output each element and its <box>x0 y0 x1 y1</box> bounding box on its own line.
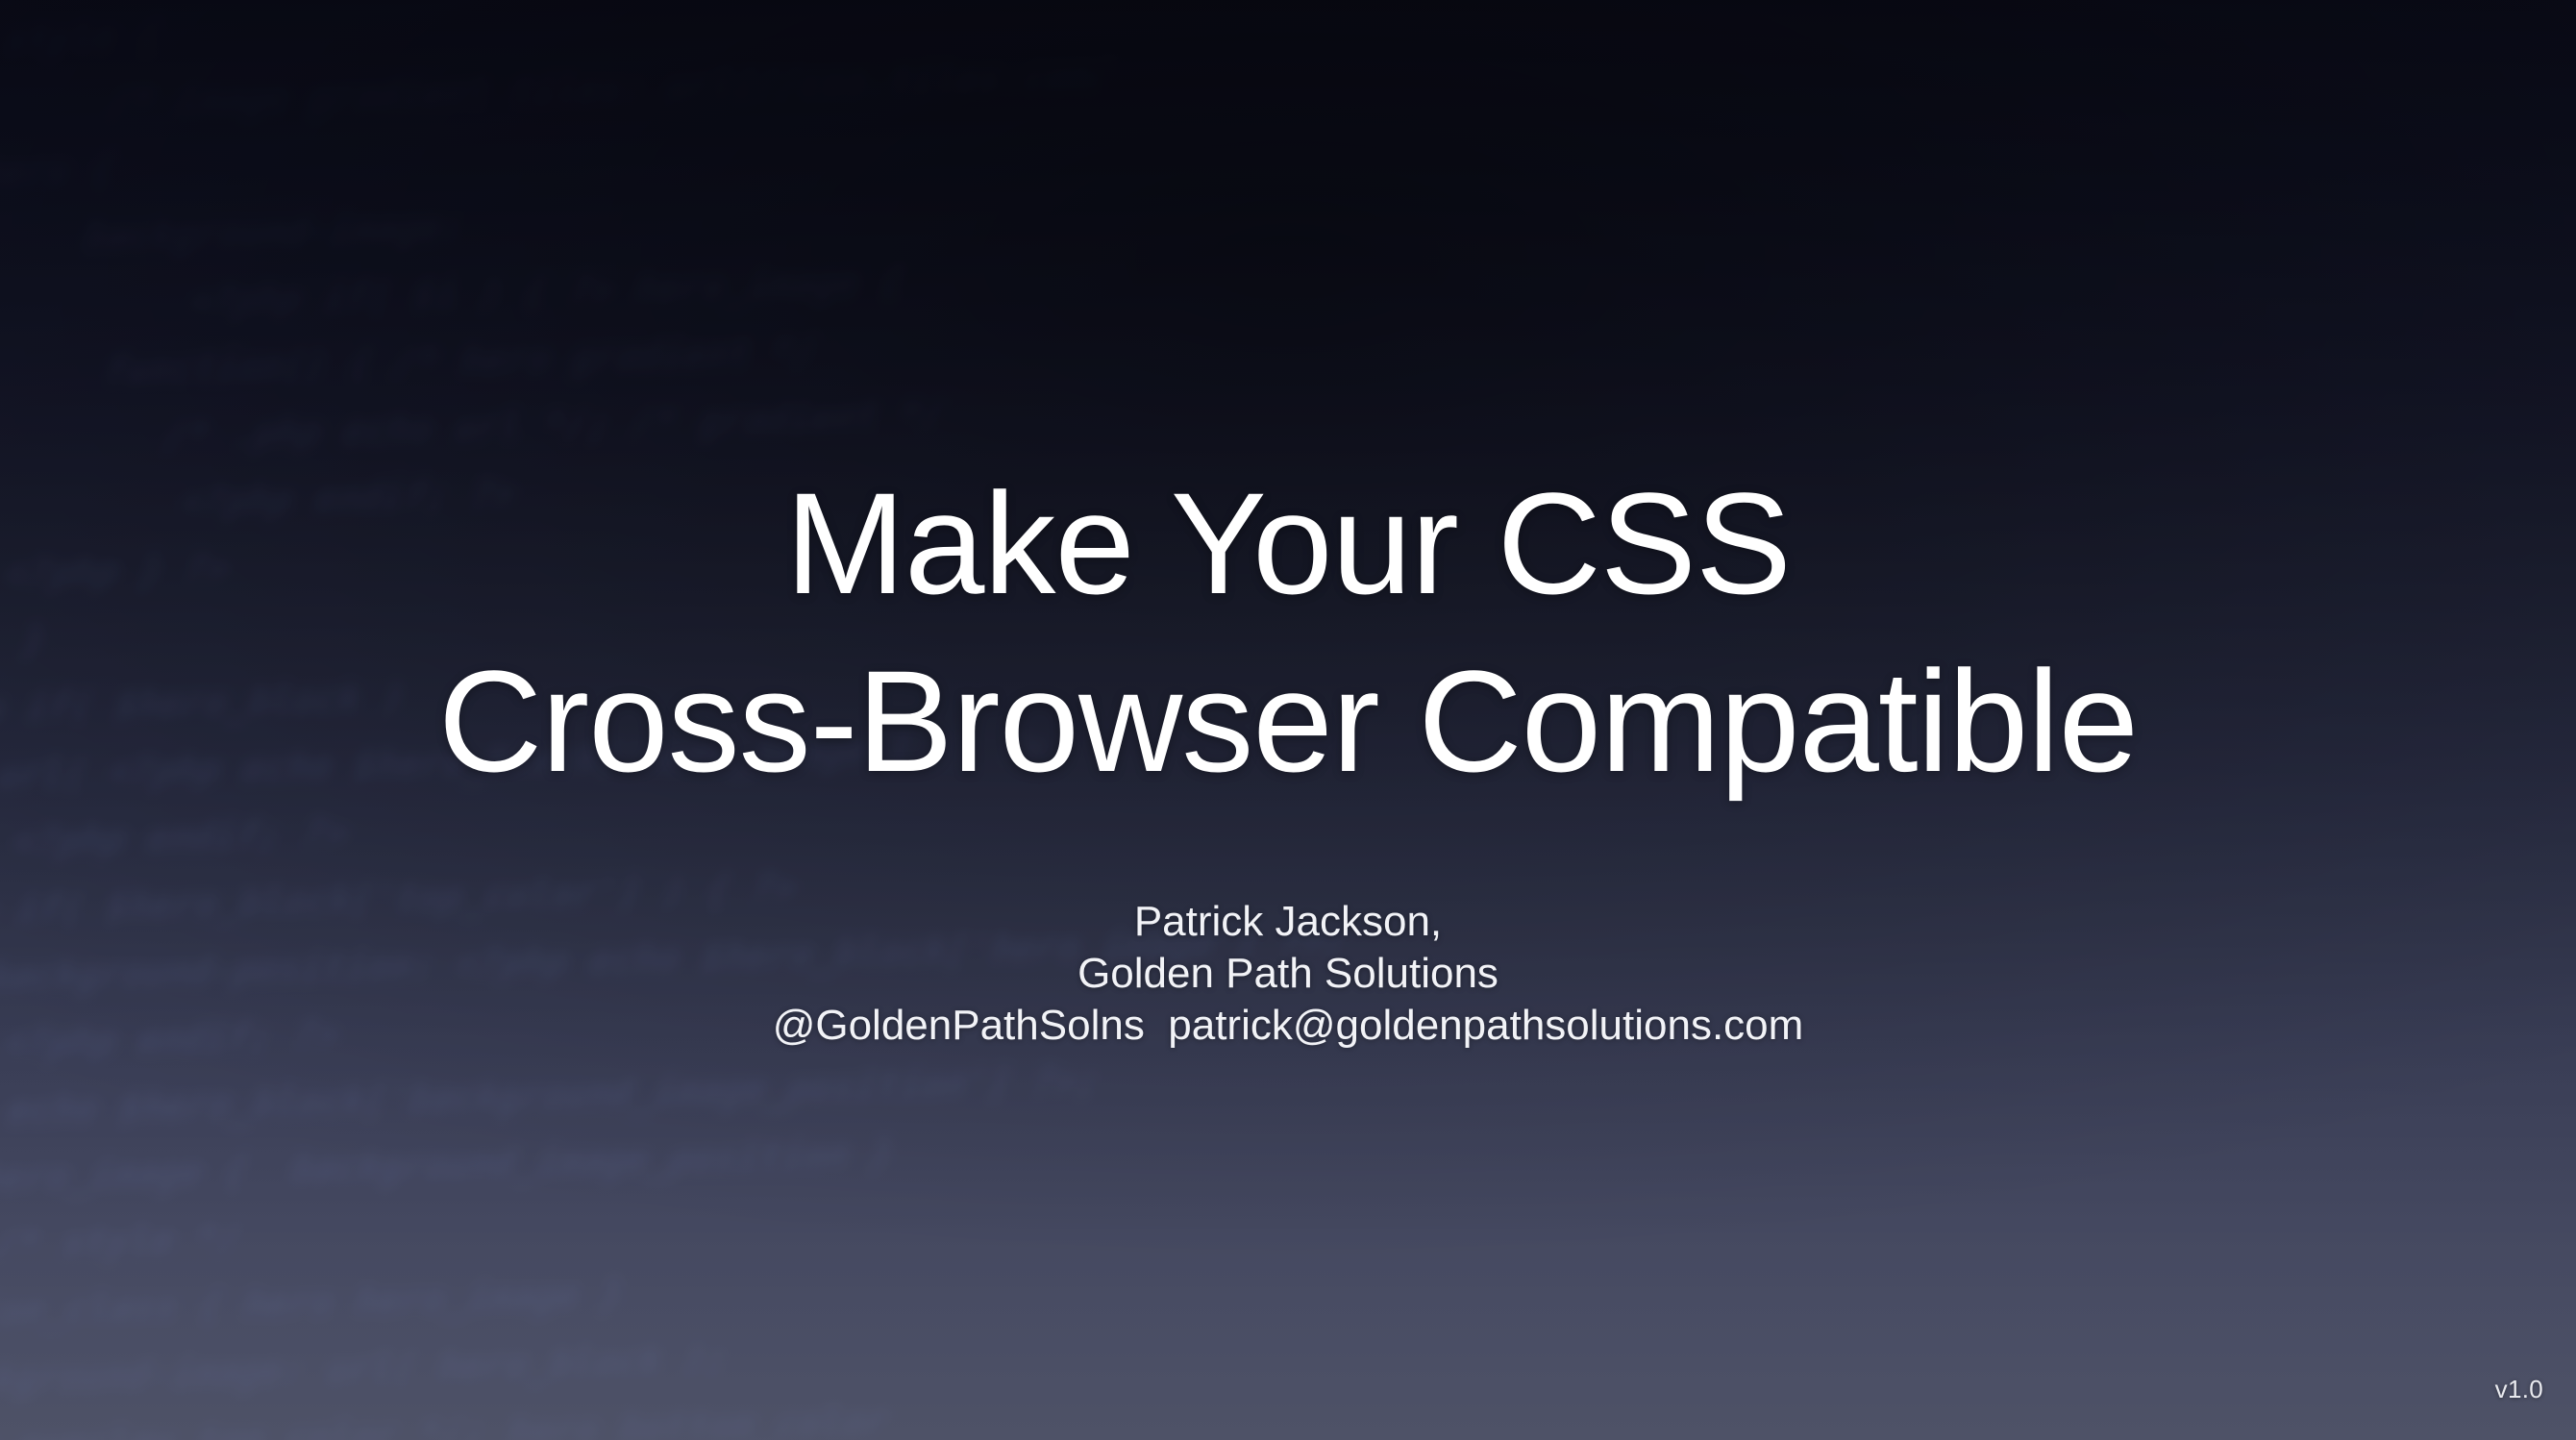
title-slide: /* style */style { /* image gradient til… <box>0 0 2576 1440</box>
slide-title: Make Your CSS Cross-Browser Compatible <box>0 455 2576 810</box>
slide-content: Make Your CSS Cross-Browser Compatible P… <box>0 0 2576 1440</box>
slide-title-line-2: Cross-Browser Compatible <box>0 633 2576 810</box>
version-label: v1.0 <box>2495 1375 2543 1403</box>
presenter-byline: Patrick Jackson, Golden Path Solutions @… <box>0 896 2576 1052</box>
presenter-name: Patrick Jackson, <box>0 896 2576 948</box>
presenter-contact: @GoldenPathSolns patrick@goldenpathsolut… <box>0 1000 2576 1052</box>
presenter-company: Golden Path Solutions <box>0 948 2576 1000</box>
slide-title-line-1: Make Your CSS <box>0 455 2576 633</box>
